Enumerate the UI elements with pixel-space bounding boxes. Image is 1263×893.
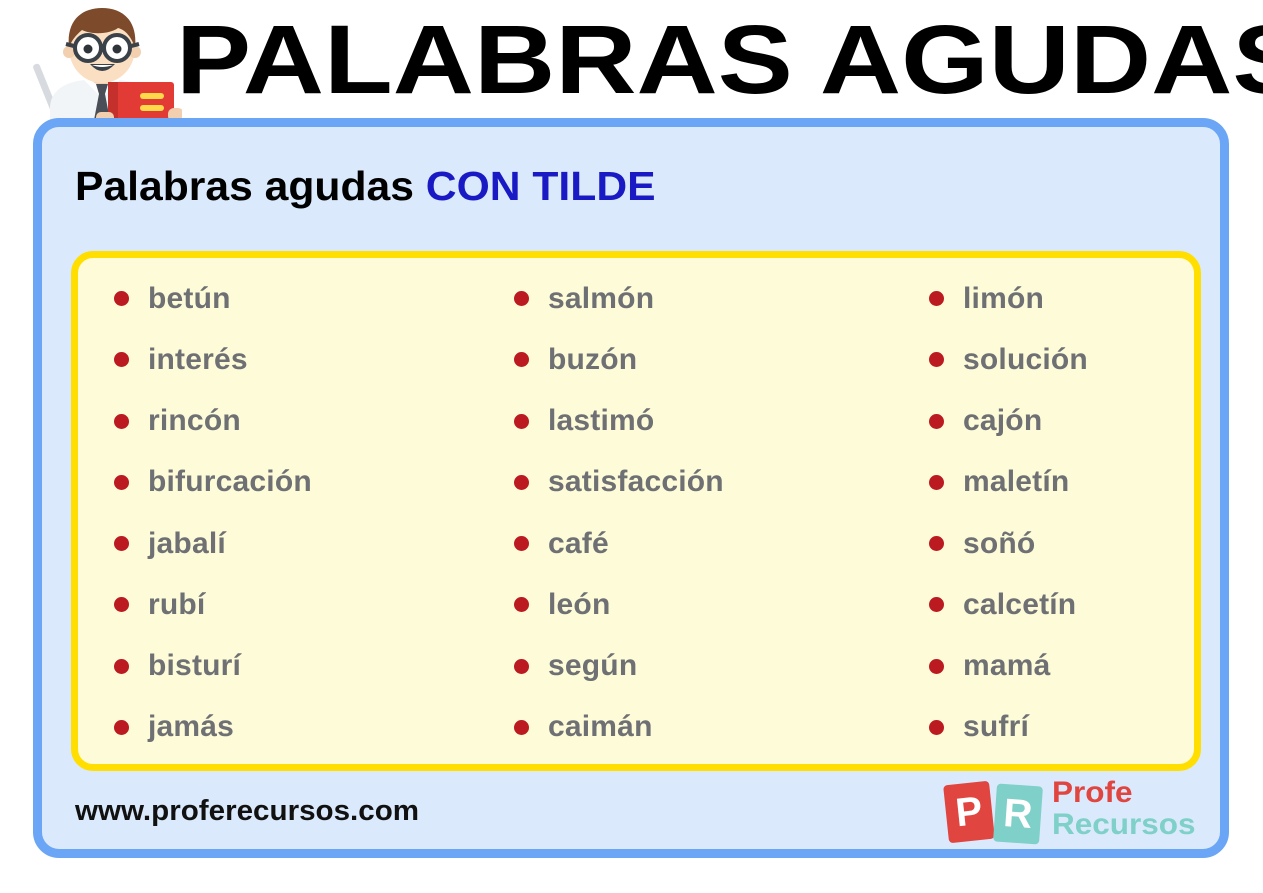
logo-text-profe: Profe	[1052, 777, 1204, 809]
word-label: rubí	[148, 588, 205, 622]
word-label: bifurcación	[148, 465, 312, 499]
word-label: solución	[963, 343, 1088, 377]
logo-wordmark: Profe Recursos	[1052, 777, 1197, 841]
word-label: según	[548, 649, 637, 683]
bullet-icon	[929, 291, 944, 306]
subtitle-text-dark: Palabras agudas	[75, 163, 414, 209]
logo-tile-r: R	[993, 783, 1043, 844]
list-item: satisfacción	[514, 452, 929, 513]
bullet-icon	[514, 352, 529, 367]
bullet-icon	[114, 475, 129, 490]
bullet-icon	[514, 291, 529, 306]
list-item: caimán	[514, 697, 929, 758]
word-label: limón	[963, 282, 1044, 316]
word-label: lastimó	[548, 404, 654, 438]
logo-text-recursos: Recursos	[1052, 809, 1204, 841]
word-label: satisfacción	[548, 465, 724, 499]
list-item: calcetín	[929, 574, 1194, 635]
word-label: calcetín	[963, 588, 1076, 622]
bullet-icon	[929, 720, 944, 735]
bullet-icon	[514, 659, 529, 674]
bullet-icon	[114, 597, 129, 612]
page-header: PALABRAS AGUDAS	[0, 0, 1263, 120]
list-item: bisturí	[114, 636, 514, 697]
word-label: león	[548, 588, 610, 622]
word-label: jamás	[148, 710, 234, 744]
bullet-icon	[114, 291, 129, 306]
list-item: café	[514, 513, 929, 574]
word-label: jabalí	[148, 527, 226, 561]
bullet-icon	[929, 659, 944, 674]
list-item: lastimó	[514, 391, 929, 452]
bullet-icon	[514, 536, 529, 551]
word-label: maletín	[963, 465, 1069, 499]
section-subtitle: Palabras agudas CON TILDE	[75, 160, 656, 212]
word-label: sufrí	[963, 710, 1029, 744]
list-item: sufrí	[929, 697, 1194, 758]
word-label: betún	[148, 282, 231, 316]
bullet-icon	[929, 536, 944, 551]
site-url: www.proferecursos.com	[75, 795, 419, 828]
list-item: según	[514, 636, 929, 697]
page-title: PALABRAS AGUDAS	[176, 6, 1263, 114]
bullet-icon	[514, 475, 529, 490]
bullet-icon	[514, 597, 529, 612]
word-label: café	[548, 527, 609, 561]
word-grid: betún interés rincón bifurcación jabalí …	[78, 258, 1194, 764]
list-item: bifurcación	[114, 452, 514, 513]
word-label: cajón	[963, 404, 1042, 438]
list-item: rincón	[114, 391, 514, 452]
list-item: rubí	[114, 574, 514, 635]
bullet-icon	[114, 414, 129, 429]
list-item: mamá	[929, 636, 1194, 697]
bullet-icon	[929, 414, 944, 429]
list-item: salmón	[514, 268, 929, 329]
bullet-icon	[514, 720, 529, 735]
bullet-icon	[929, 352, 944, 367]
word-label: soñó	[963, 527, 1035, 561]
word-list-card: betún interés rincón bifurcación jabalí …	[71, 251, 1201, 771]
bullet-icon	[929, 475, 944, 490]
word-label: mamá	[963, 649, 1051, 683]
bullet-icon	[514, 414, 529, 429]
list-item: interés	[114, 329, 514, 390]
list-item: maletín	[929, 452, 1194, 513]
bullet-icon	[114, 659, 129, 674]
list-item: león	[514, 574, 929, 635]
bullet-icon	[114, 352, 129, 367]
word-label: salmón	[548, 282, 654, 316]
bullet-icon	[114, 720, 129, 735]
list-item: jamás	[114, 697, 514, 758]
list-item: solución	[929, 329, 1194, 390]
list-item: cajón	[929, 391, 1194, 452]
bullet-icon	[114, 536, 129, 551]
word-label: buzón	[548, 343, 637, 377]
subtitle-text-accent: CON TILDE	[426, 163, 656, 209]
list-item: soñó	[929, 513, 1194, 574]
word-label: caimán	[548, 710, 653, 744]
content-panel: Palabras agudas CON TILDE betún interés …	[33, 118, 1229, 858]
word-label: interés	[148, 343, 248, 377]
word-label: rincón	[148, 404, 241, 438]
logo-tiles: P R	[946, 781, 1046, 843]
list-item: buzón	[514, 329, 929, 390]
logo-tile-p: P	[943, 781, 995, 843]
list-item: limón	[929, 268, 1194, 329]
word-label: bisturí	[148, 649, 241, 683]
teacher-illustration-icon	[22, 4, 182, 122]
bullet-icon	[929, 597, 944, 612]
list-item: betún	[114, 268, 514, 329]
proferecursos-logo: P R Profe Recursos	[946, 777, 1196, 849]
list-item: jabalí	[114, 513, 514, 574]
